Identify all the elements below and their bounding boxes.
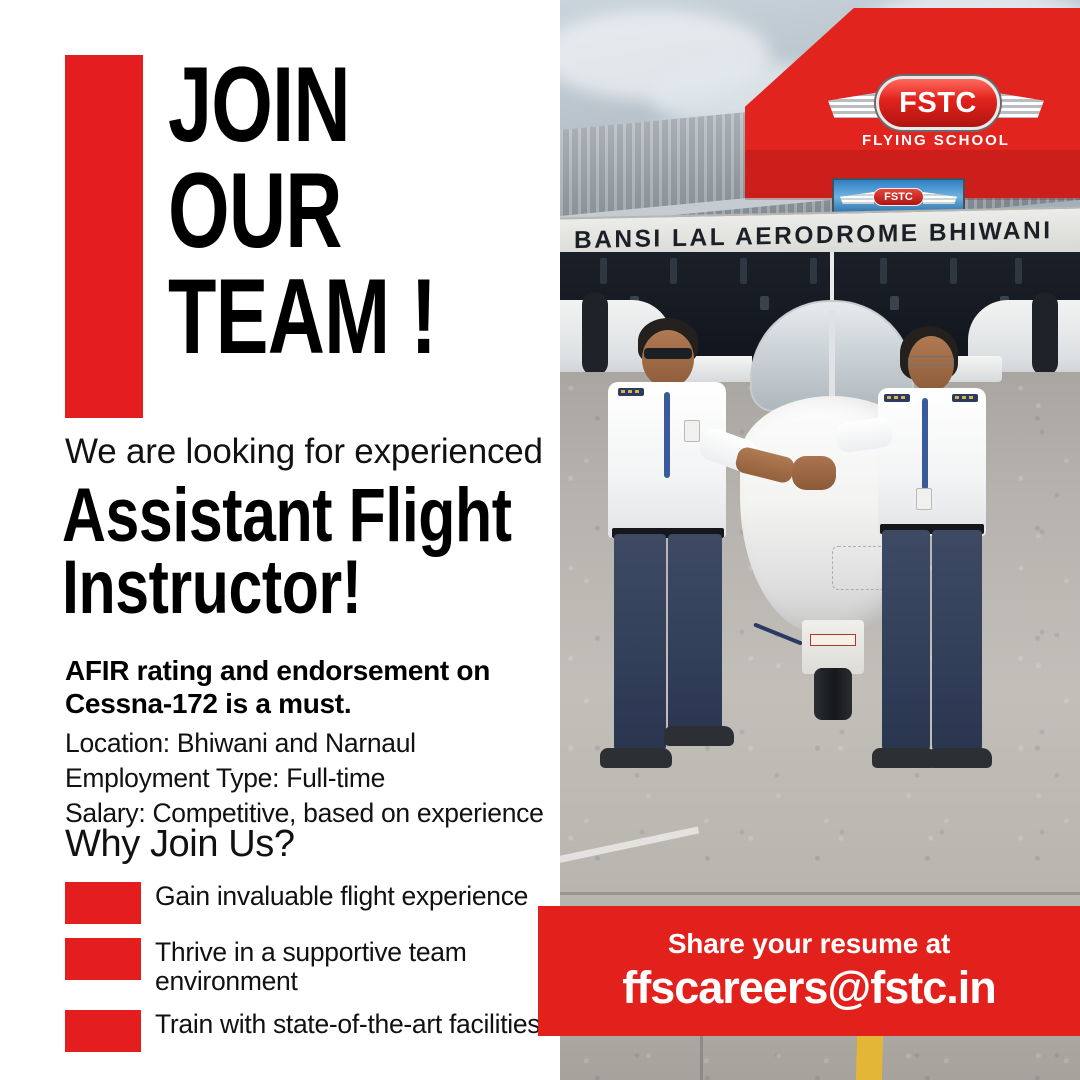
- pilot-trousers: [668, 534, 722, 744]
- list-item: Thrive in a supportive team environment: [65, 936, 545, 996]
- role-title-line-2: Instructor!: [62, 552, 462, 624]
- bullet-square-icon: [65, 1010, 141, 1052]
- wing-right-icon: [923, 192, 957, 204]
- windshield-post: [829, 310, 835, 406]
- fstc-logo-subtext: FLYING SCHOOL: [828, 132, 1044, 149]
- pilot-shoe: [872, 748, 936, 768]
- job-meta-list: Location: Bhiwani and Narnaul Employment…: [65, 726, 555, 831]
- meta-location: Location: Bhiwani and Narnaul: [65, 726, 555, 761]
- benefit-label: Gain invaluable flight experience: [155, 880, 528, 911]
- benefit-label: Thrive in a supportive team environment: [155, 936, 545, 996]
- aircraft-warning-placard: [810, 634, 856, 646]
- handshake: [792, 456, 836, 490]
- share-resume-label: Share your resume at: [668, 928, 950, 960]
- hangar-beam: [950, 258, 957, 284]
- propeller-right-icon: [1032, 292, 1058, 376]
- fstc-logo-pill: FSTC: [876, 76, 1000, 130]
- headline-line-1: JOIN: [168, 52, 449, 158]
- pilot-shoe: [664, 726, 734, 746]
- aircraft-antenna: [830, 252, 834, 302]
- left-content-column: JOIN OUR TEAM ! We are looking for exper…: [0, 0, 560, 1080]
- hangar-beam: [740, 258, 747, 284]
- pilot-shoe: [600, 748, 672, 768]
- apron-joint: [560, 892, 1080, 895]
- fstc-logo: FSTC FLYING SCHOOL: [828, 68, 1044, 150]
- hangar-beam: [600, 258, 607, 284]
- sunglasses-icon: [644, 348, 692, 359]
- why-join-us-heading: Why Join Us?: [65, 823, 295, 866]
- pilot-epaulet: [952, 394, 978, 402]
- pilot-shoe: [928, 748, 992, 768]
- role-title: Assistant Flight Instructor!: [62, 480, 462, 624]
- pilot-trousers: [882, 530, 930, 752]
- list-item: Train with state-of-the-art facilities: [65, 1008, 545, 1052]
- hangar-beam: [1015, 258, 1022, 284]
- careers-email-address[interactable]: ffscareers@fstc.in: [622, 962, 996, 1014]
- pilot-epaulet: [618, 388, 644, 396]
- pilot-lanyard: [922, 398, 928, 490]
- benefit-label: Train with state-of-the-art facilities: [155, 1008, 540, 1039]
- pilot-trousers: [932, 530, 982, 752]
- headline-line-3: TEAM !: [168, 264, 449, 370]
- aircraft-livery-stripe: [753, 622, 803, 645]
- pilot-shirt: [878, 388, 986, 536]
- contact-cta-banner: Share your resume at ffscareers@fstc.in: [538, 906, 1080, 1036]
- meta-employment-type: Employment Type: Full-time: [65, 761, 555, 796]
- aircraft-nose-wheel: [814, 668, 852, 720]
- requirement-text: AFIR rating and endorsement on Cessna-17…: [65, 654, 535, 720]
- red-accent-bar: [65, 55, 143, 418]
- billboard-logo-text: FSTC: [873, 188, 924, 206]
- recruitment-poster: JOIN OUR TEAM ! We are looking for exper…: [0, 0, 1080, 1080]
- pilot-head: [642, 330, 694, 388]
- wing-left-icon: [840, 192, 874, 204]
- hangar-beam: [880, 258, 887, 284]
- aerodrome-sign-text: BANSI LAL AERODROME BHIWANI: [560, 217, 1053, 255]
- role-title-line-1: Assistant Flight: [62, 480, 462, 552]
- fstc-logo-text: FSTC: [899, 87, 977, 120]
- page-title: JOIN OUR TEAM !: [168, 52, 449, 370]
- aircraft-nose-gear-fairing: [802, 620, 864, 674]
- pilot-epaulet: [884, 394, 910, 402]
- list-item: Gain invaluable flight experience: [65, 880, 545, 924]
- hangar-beam: [810, 258, 817, 284]
- pilot-trousers: [614, 534, 666, 752]
- benefits-list: Gain invaluable flight experience Thrive…: [65, 880, 545, 1052]
- pilot-lanyard: [664, 392, 670, 478]
- bullet-square-icon: [65, 882, 141, 924]
- pilot-id-badge: [684, 420, 700, 442]
- hangar-beam: [670, 258, 677, 284]
- headline-line-2: OUR: [168, 158, 449, 264]
- pilot-id-badge: [916, 488, 932, 510]
- propeller-left-icon: [582, 292, 608, 376]
- sub-lead-text: We are looking for experienced: [65, 432, 543, 472]
- bullet-square-icon: [65, 938, 141, 980]
- eyeglasses-icon: [908, 356, 954, 366]
